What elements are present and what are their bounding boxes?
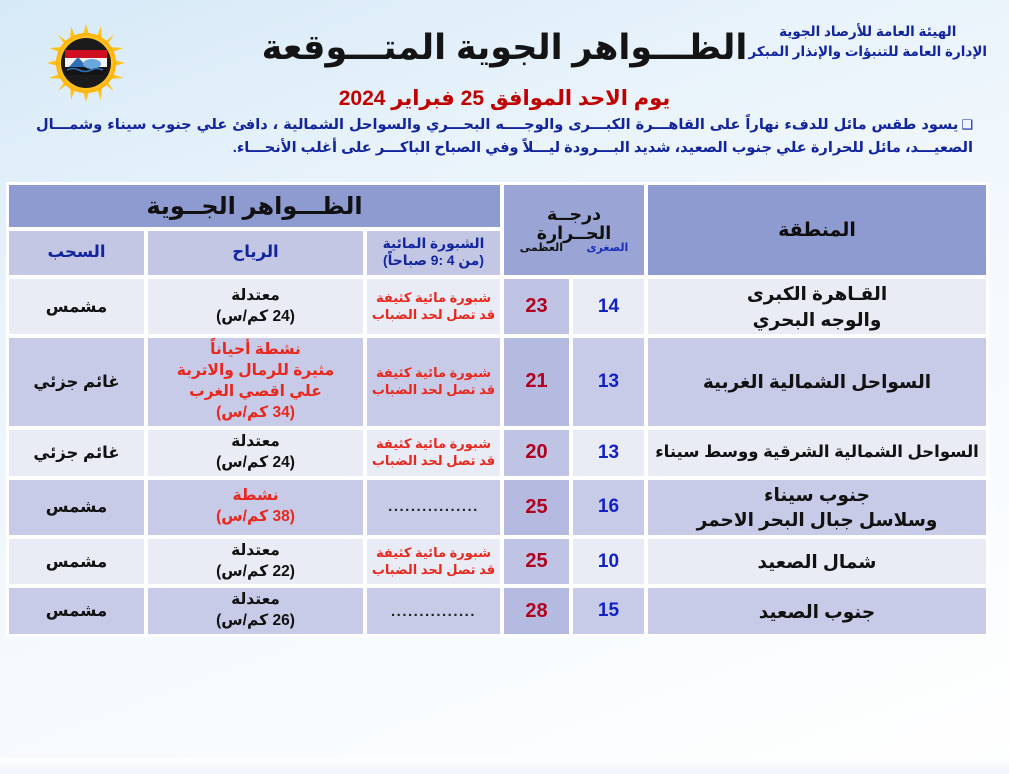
region-line: والوجه البحري [753,309,882,330]
region-line: وسلاسل جبال البحر الاحمر [697,509,938,530]
fog-line: قد تصل لحد الضباب [372,307,495,322]
table-row: جنوب سيناءوسلاسل جبال البحر الاحمر1625..… [8,479,987,536]
wind-label-line: علي اقصي الغرب [189,383,322,400]
cell-wind: معتدلة(24 كم/س) [147,278,364,335]
wind-speed: (38 كم/س) [152,507,359,528]
header-temperature-line2: الحــرارة [508,224,640,242]
cell-wind: نشطة أحياناًمثيرة للرمال والاتربةعلي اقص… [147,337,364,427]
cell-fog: شبورة مائية كثيفةقد تصل لحد الضباب [366,538,501,586]
header-temperature: درجــة الحــرارة الصغرى العظمى [503,184,645,276]
cell-wind: نشطة(38 كم/س) [147,479,364,536]
header-wind: الرياح [147,230,364,276]
wind-label-line: نشطة أحياناً [210,341,301,358]
cell-temp-min: 10 [572,538,645,586]
cell-temp-max: 25 [503,538,570,586]
cell-fog: شبورة مائية كثيفةقد تصل لحد الضباب [366,337,501,427]
cell-cloud: مشمس [8,538,145,586]
cell-region: جنوب سيناءوسلاسل جبال البحر الاحمر [647,479,987,536]
cell-fog: ................ [366,479,501,536]
cell-region: جنوب الصعيد [647,587,987,635]
fog-line: قد تصل لحد الضباب [372,382,495,397]
summary-text: يسود طقس مائل للدفء نهاراً على القاهـــر… [36,117,973,156]
region-line: القـاهرة الكبرى [747,283,887,304]
header-weather-phenomena: الظـــواهر الجــوية [8,184,501,228]
cell-temp-min: 14 [572,278,645,335]
fog-line: ................ [388,498,479,515]
table-header-row-1: المنطقة درجــة الحــرارة الصغرى العظمى ا… [8,184,987,228]
table-row: السواحل الشمالية الغربية1321شبورة مائية … [8,337,987,427]
cell-cloud: غائم جزئي [8,429,145,477]
header-temp-min: الصغرى [586,243,628,255]
cell-temp-max: 20 [503,429,570,477]
fog-line: قد تصل لحد الضباب [372,562,495,577]
bottom-fade [0,758,1009,774]
wind-label-line: معتدلة [231,591,280,608]
region-line: السواحل الشمالية الشرقية ووسط سيناء [655,443,979,461]
cell-cloud: مشمس [8,278,145,335]
region-line: السواحل الشمالية الغربية [703,371,931,392]
cell-temp-max: 25 [503,479,570,536]
header-fog-line2: (من 4 :9 صباحاً) [383,253,484,268]
cell-wind: معتدلة(24 كم/س) [147,429,364,477]
cell-temp-max: 23 [503,278,570,335]
forecast-date: يوم الاحد الموافق 25 فبراير 2024 [0,86,1009,111]
page-header: EMA الهيئة العامة للأرصاد الجوية الإدارة… [0,0,1009,176]
header-fog: الشبورة المائية (من 4 :9 صباحاً) [366,230,501,276]
wind-speed: (26 كم/س) [152,611,359,632]
wind-speed: (22 كم/س) [152,562,359,583]
fog-line: ............... [391,603,476,620]
wind-label-line: نشطة [232,487,278,504]
wind-label-line: مثيرة للرمال والاتربة [177,362,334,379]
table-row: السواحل الشمالية الشرقية ووسط سيناء1320ش… [8,429,987,477]
cell-region: السواحل الشمالية الغربية [647,337,987,427]
wind-label-line: معتدلة [231,433,280,450]
cell-cloud: مشمس [8,479,145,536]
cell-region: شمال الصعيد [647,538,987,586]
fog-line: شبورة مائية كثيفة [376,545,491,560]
cell-region: السواحل الشمالية الشرقية ووسط سيناء [647,429,987,477]
cell-fog: ............... [366,587,501,635]
forecast-table-body: القـاهرة الكبرىوالوجه البحري1423شبورة ما… [8,278,987,635]
forecast-table: المنطقة درجــة الحــرارة الصغرى العظمى ا… [6,182,989,637]
cell-wind: معتدلة(26 كم/س) [147,587,364,635]
cell-temp-min: 13 [572,429,645,477]
region-line: جنوب الصعيد [759,601,875,622]
table-row: القـاهرة الكبرىوالوجه البحري1423شبورة ما… [8,278,987,335]
header-temperature-line1: درجــة [508,205,640,223]
fog-line: شبورة مائية كثيفة [376,290,491,305]
wind-label-line: معتدلة [231,542,280,559]
cell-temp-max: 21 [503,337,570,427]
table-row: جنوب الصعيد1528...............معتدلة(26 … [8,587,987,635]
cell-fog: شبورة مائية كثيفةقد تصل لحد الضباب [366,278,501,335]
cell-temp-min: 16 [572,479,645,536]
wind-label-line: معتدلة [231,287,280,304]
fog-line: شبورة مائية كثيفة [376,436,491,451]
header-region: المنطقة [647,184,987,276]
forecast-table-wrapper: المنطقة درجــة الحــرارة الصغرى العظمى ا… [20,182,989,637]
cell-temp-min: 15 [572,587,645,635]
bullet-square-icon: ❑ [961,117,973,132]
cell-temp-min: 13 [572,337,645,427]
wind-speed: (24 كم/س) [152,307,359,328]
fog-line: شبورة مائية كثيفة [376,365,491,380]
header-temp-max: العظمى [520,243,563,255]
cell-region: القـاهرة الكبرىوالوجه البحري [647,278,987,335]
cell-cloud: غائم جزئي [8,337,145,427]
header-fog-line1: الشبورة المائية [383,236,485,251]
page-title: الظـــواهر الجوية المتـــوقعة [0,28,1009,68]
region-line: شمال الصعيد [758,551,877,572]
cell-wind: معتدلة(22 كم/س) [147,538,364,586]
cell-fog: شبورة مائية كثيفةقد تصل لحد الضباب [366,429,501,477]
fog-line: قد تصل لحد الضباب [372,453,495,468]
forecast-page: EMA الهيئة العامة للأرصاد الجوية الإدارة… [0,0,1009,774]
table-row: شمال الصعيد1025شبورة مائية كثيفةقد تصل ل… [8,538,987,586]
wind-speed: (34 كم/س) [152,403,359,424]
region-line: جنوب سيناء [764,484,870,505]
header-cloud: السحب [8,230,145,276]
wind-speed: (24 كم/س) [152,453,359,474]
forecast-summary: ❑يسود طقس مائل للدفء نهاراً على القاهـــ… [36,114,973,160]
cell-cloud: مشمس [8,587,145,635]
cell-temp-max: 28 [503,587,570,635]
